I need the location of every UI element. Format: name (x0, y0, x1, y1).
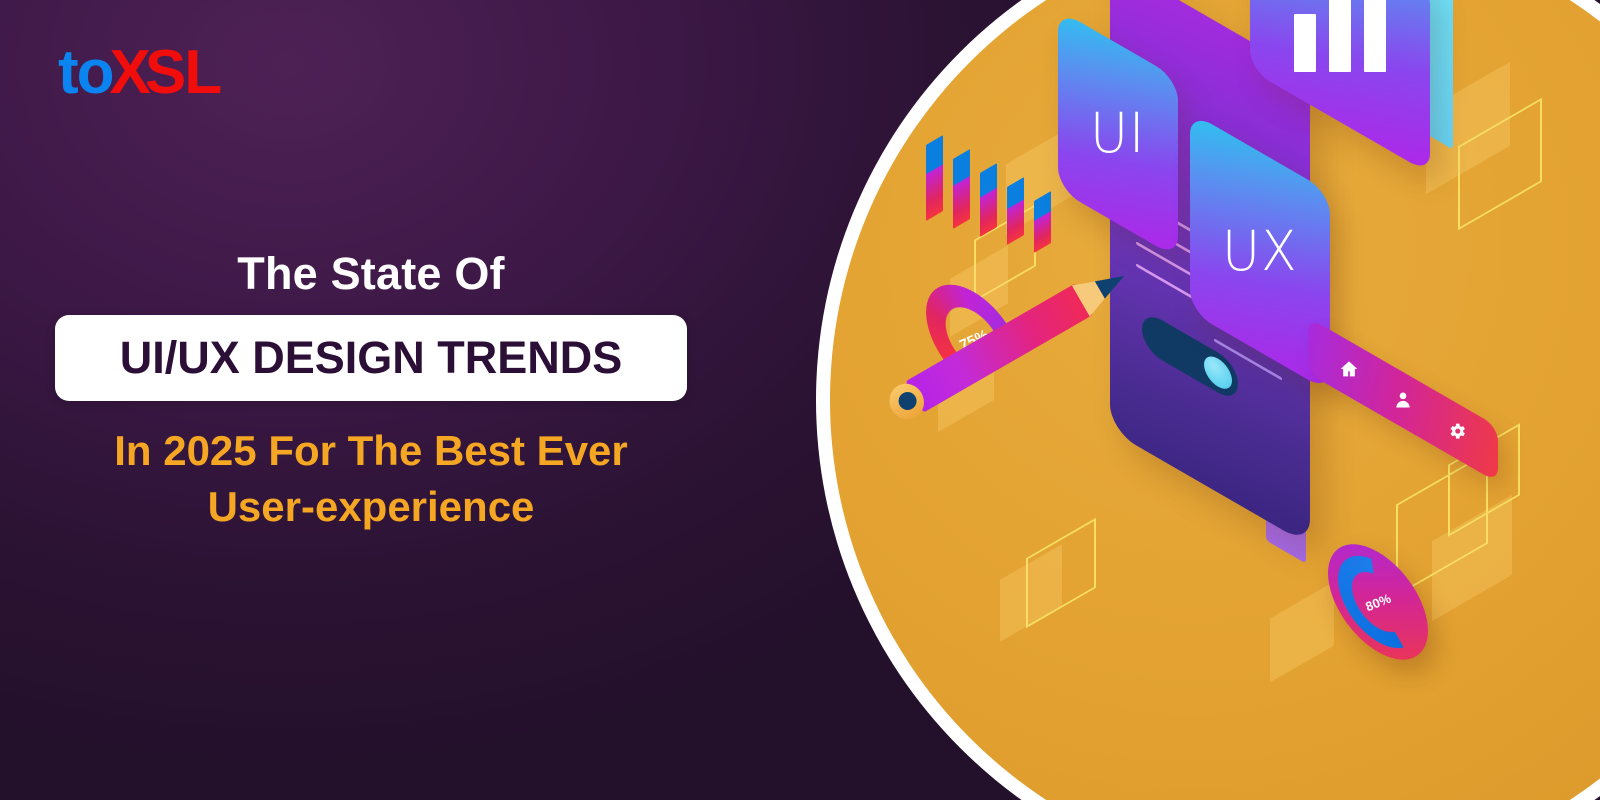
headline-eyebrow: The State Of (55, 250, 687, 297)
iso-bar (953, 149, 970, 229)
chart-card-bar (1294, 14, 1316, 72)
chart-card-bar (1364, 0, 1386, 72)
chart-card-bars (1294, 0, 1386, 72)
iso-bar (1034, 191, 1051, 253)
chart-card-side (1427, 0, 1453, 150)
text-column: toXSL The State Of UI/UX DESIGN TRENDS I… (0, 0, 760, 800)
headline-block: The State Of UI/UX DESIGN TRENDS In 2025… (55, 250, 687, 534)
subhead-line-1: In 2025 For The Best Ever (55, 423, 687, 478)
logo-text-x: X (110, 38, 149, 107)
chart-card-bar (1329, 0, 1351, 72)
title-plate-text: UI/UX DESIGN TRENDS (120, 332, 623, 384)
iso-bar (980, 163, 997, 237)
ui-card-label: UI (1090, 102, 1145, 166)
headline-subhead: In 2025 For The Best Ever User-experienc… (55, 423, 687, 534)
gear-icon[interactable] (1446, 420, 1468, 442)
iso-bar (1007, 177, 1024, 245)
promo-banner: toXSL The State Of UI/UX DESIGN TRENDS I… (0, 0, 1600, 800)
ux-card-label: UX (1222, 220, 1298, 284)
logo-text-sl: SL (145, 38, 220, 107)
iso-bar (926, 135, 943, 221)
user-icon[interactable] (1392, 389, 1414, 411)
subhead-line-2: User-experience (55, 479, 687, 534)
brand-logo[interactable]: toXSL (58, 42, 220, 104)
illustration-stage: UI UX 75% 80% (830, 0, 1600, 800)
title-plate: UI/UX DESIGN TRENDS (55, 315, 687, 401)
nav-toolbar[interactable] (1308, 317, 1498, 483)
home-icon[interactable] (1338, 358, 1360, 380)
logo-text-to: to (58, 38, 113, 107)
